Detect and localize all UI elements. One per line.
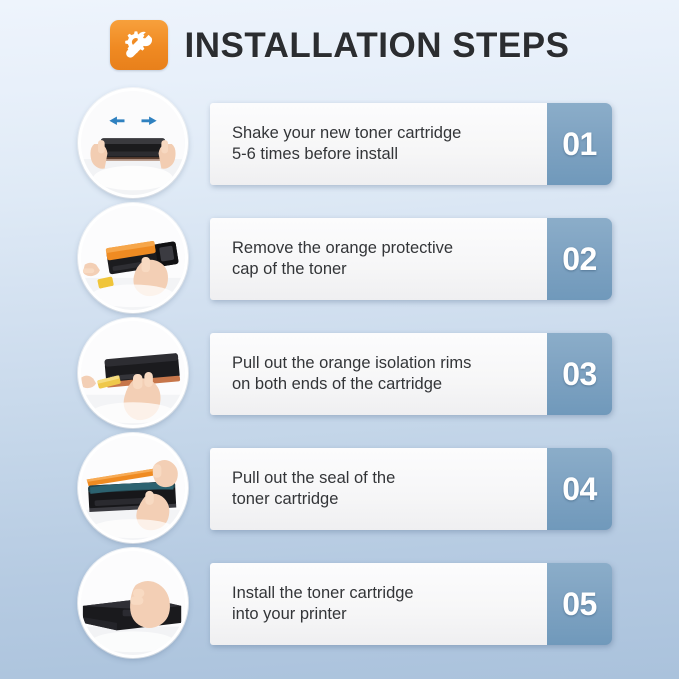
step-row: Install the toner cartridge into your pr… <box>0 548 679 663</box>
step-text-line-2: cap of the toner <box>232 259 537 280</box>
step-text-line-2: toner cartridge <box>232 489 537 510</box>
installation-steps-infographic: INSTALLATION STEPS <box>0 0 679 679</box>
step-text-line-1: Pull out the orange isolation rims <box>232 353 537 374</box>
page-title: INSTALLATION STEPS <box>185 28 570 63</box>
step-text-1: Shake your new toner cartridge 5-6 times… <box>210 103 547 185</box>
remove-orange-cap-illustration <box>81 206 185 310</box>
step-row: Remove the orange protective cap of the … <box>0 203 679 318</box>
pull-isolation-rim-illustration <box>81 321 185 425</box>
step-row: Pull out the orange isolation rims on bo… <box>0 318 679 433</box>
step-photo-3 <box>78 318 188 428</box>
header: INSTALLATION STEPS <box>0 14 679 76</box>
step-photo-4 <box>78 433 188 543</box>
step-number-badge: 01 <box>547 103 612 185</box>
step-number-badge: 03 <box>547 333 612 415</box>
step-text-line-2: 5-6 times before install <box>232 144 537 165</box>
step-text-3: Pull out the orange isolation rims on bo… <box>210 333 547 415</box>
step-text-line-1: Shake your new toner cartridge <box>232 123 537 144</box>
step-card-3: Pull out the orange isolation rims on bo… <box>210 333 612 415</box>
step-text-line-2: into your printer <box>232 604 537 625</box>
step-row: Shake your new toner cartridge 5-6 times… <box>0 88 679 203</box>
step-row: Pull out the seal of the toner cartridge… <box>0 433 679 548</box>
step-number-badge: 02 <box>547 218 612 300</box>
step-text-2: Remove the orange protective cap of the … <box>210 218 547 300</box>
step-card-1: Shake your new toner cartridge 5-6 times… <box>210 103 612 185</box>
step-card-4: Pull out the seal of the toner cartridge… <box>210 448 612 530</box>
step-card-2: Remove the orange protective cap of the … <box>210 218 612 300</box>
step-text-line-1: Install the toner cartridge <box>232 583 537 604</box>
step-photo-5 <box>78 548 188 658</box>
step-number-badge: 04 <box>547 448 612 530</box>
steps-list: Shake your new toner cartridge 5-6 times… <box>0 88 679 663</box>
step-text-line-1: Remove the orange protective <box>232 238 537 259</box>
install-cartridge-illustration <box>81 551 185 655</box>
gear-wrench-icon <box>110 20 168 70</box>
step-text-4: Pull out the seal of the toner cartridge <box>210 448 547 530</box>
step-number-badge: 05 <box>547 563 612 645</box>
shake-cartridge-illustration <box>81 91 185 195</box>
step-card-5: Install the toner cartridge into your pr… <box>210 563 612 645</box>
step-text-5: Install the toner cartridge into your pr… <box>210 563 547 645</box>
step-photo-1 <box>78 88 188 198</box>
pull-seal-strip-illustration <box>81 436 185 540</box>
step-text-line-2: on both ends of the cartridge <box>232 374 537 395</box>
step-photo-2 <box>78 203 188 313</box>
step-text-line-1: Pull out the seal of the <box>232 468 537 489</box>
